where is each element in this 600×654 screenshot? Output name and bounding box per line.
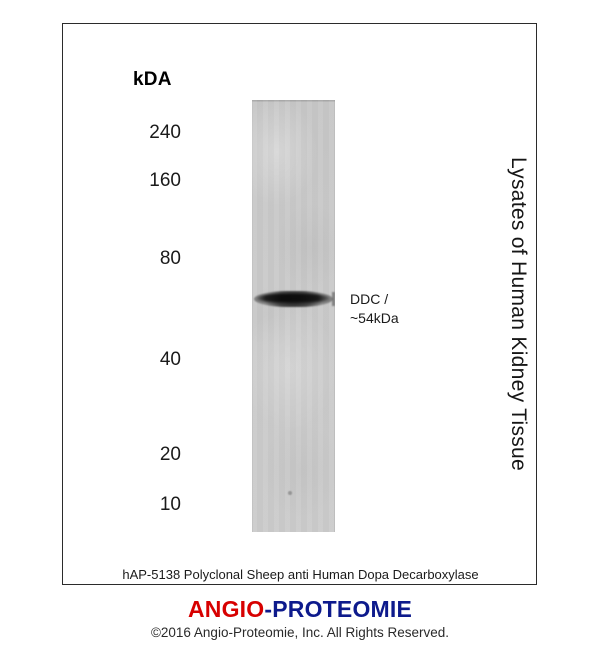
band-annotation-line-2: ~54kDa (350, 309, 399, 328)
brand-name-primary: ANGIO (188, 596, 264, 622)
marker-label-40: 40 (125, 349, 181, 371)
band-annotation-line-1: DDC / (350, 290, 399, 309)
sample-lane-label: Lysates of Human Kidney Tissue (506, 157, 530, 471)
brand-logo: ANGIO-PROTEOMIE (0, 596, 600, 622)
marker-label-160: 160 (125, 170, 181, 192)
marker-label-20: 20 (125, 444, 181, 466)
ddc-band-core (257, 294, 329, 302)
band-edge-artifact (332, 292, 335, 306)
marker-label-10: 10 (125, 494, 181, 516)
marker-label-80: 80 (125, 248, 181, 270)
kda-axis-heading: kDA (133, 69, 172, 91)
brand-name-secondary: -PROTEOMIE (264, 596, 412, 622)
marker-label-240: 240 (125, 122, 181, 144)
copyright-notice: ©2016 Angio-Proteomie, Inc. All Rights R… (0, 624, 600, 641)
figure-caption: hAP-5138 Polyclonal Sheep anti Human Dop… (63, 567, 538, 582)
lane-speck-artifact (288, 491, 292, 495)
footer: ANGIO-PROTEOMIE ©2016 Angio-Proteomie, I… (0, 596, 600, 641)
blot-lane (252, 100, 335, 532)
band-annotation: DDC / ~54kDa (350, 290, 399, 328)
figure-panel: kDA 240 160 80 40 20 10 DDC / ~54kDa Lys… (62, 23, 537, 585)
